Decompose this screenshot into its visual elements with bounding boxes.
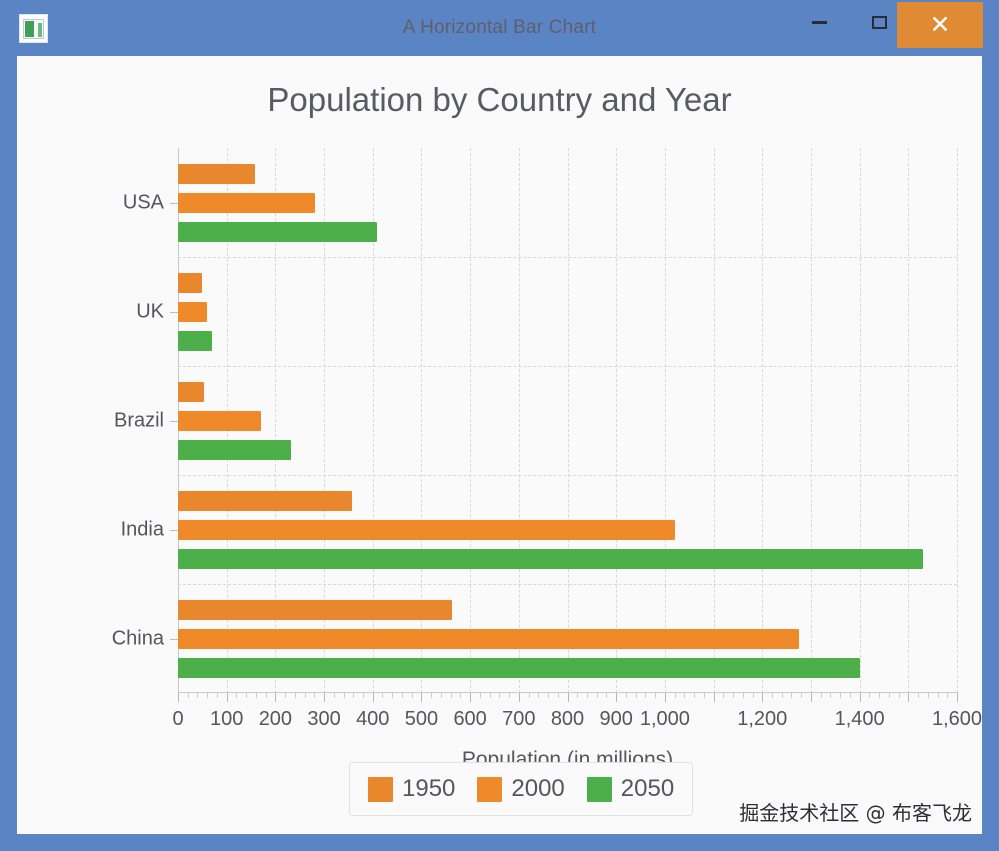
gridline-vertical xyxy=(616,148,617,693)
x-tick-minor xyxy=(460,693,461,698)
legend-item-2000[interactable]: 2000 xyxy=(477,775,564,803)
legend-swatch-1950 xyxy=(368,777,393,802)
x-tick-minor xyxy=(344,693,345,698)
x-tick-major xyxy=(519,693,520,702)
x-tick-minor xyxy=(509,693,510,698)
x-tick-minor xyxy=(548,693,549,698)
close-button[interactable]: ✕ xyxy=(897,2,983,48)
legend-label-2050: 2050 xyxy=(621,775,674,803)
x-tick-minor xyxy=(577,693,578,698)
legend-swatch-2050 xyxy=(587,777,612,802)
x-tick-minor xyxy=(772,693,773,698)
x-tick-minor xyxy=(655,693,656,698)
bar-china-2050[interactable] xyxy=(178,658,860,678)
bar-uk-2050[interactable] xyxy=(178,331,212,351)
x-tick-label-300: 300 xyxy=(307,708,340,731)
x-tick-minor xyxy=(314,693,315,698)
bar-usa-2000[interactable] xyxy=(178,193,315,213)
gridline-vertical xyxy=(665,148,666,693)
bar-india-2050[interactable] xyxy=(178,549,923,569)
x-tick-minor xyxy=(285,693,286,698)
x-tick-minor xyxy=(305,693,306,698)
x-tick-major xyxy=(373,693,374,702)
x-tick-label-0: 0 xyxy=(172,708,183,731)
x-tick-major xyxy=(860,693,861,702)
x-tick-major xyxy=(616,693,617,702)
bar-usa-1950[interactable] xyxy=(178,164,255,184)
x-tick-minor xyxy=(626,693,627,698)
gridline-vertical xyxy=(714,148,715,693)
x-tick-minor xyxy=(236,693,237,698)
gridline-vertical xyxy=(860,148,861,693)
x-tick-minor xyxy=(869,693,870,698)
x-tick-minor xyxy=(363,693,364,698)
legend-item-1950[interactable]: 1950 xyxy=(368,775,455,803)
x-tick-minor xyxy=(529,693,530,698)
y-tick-label-uk: UK xyxy=(136,300,164,323)
x-tick-minor xyxy=(266,693,267,698)
y-tick-label-usa: USA xyxy=(123,191,164,214)
bar-brazil-2000[interactable] xyxy=(178,411,261,431)
x-tick-minor xyxy=(821,693,822,698)
x-tick-minor xyxy=(402,693,403,698)
bar-india-1950[interactable] xyxy=(178,491,352,511)
gridline-vertical xyxy=(811,148,812,693)
x-tick-minor xyxy=(733,693,734,698)
x-tick-label-1200: 1,200 xyxy=(737,708,787,731)
x-tick-label-200: 200 xyxy=(259,708,292,731)
y-tick-label-brazil: Brazil xyxy=(114,409,164,432)
x-tick-minor xyxy=(743,693,744,698)
bar-india-2000[interactable] xyxy=(178,520,675,540)
gridline-vertical xyxy=(762,148,763,693)
gridline-horizontal xyxy=(178,584,957,585)
y-tick-label-india: India xyxy=(121,518,164,541)
window-title: A Horizontal Bar Chart xyxy=(0,17,999,39)
chart-title: Population by Country and Year xyxy=(17,81,982,119)
x-tick-minor xyxy=(207,693,208,698)
y-tick-mark xyxy=(170,421,178,422)
x-tick-minor xyxy=(197,693,198,698)
x-tick-label-1600: 1,600 xyxy=(932,708,982,731)
x-tick-label-600: 600 xyxy=(453,708,486,731)
x-tick-major xyxy=(275,693,276,702)
x-tick-minor xyxy=(947,693,948,698)
gridline-vertical xyxy=(519,148,520,693)
x-tick-major xyxy=(665,693,666,702)
x-tick-minor xyxy=(704,693,705,698)
x-tick-label-1000: 1,000 xyxy=(640,708,690,731)
x-tick-minor xyxy=(879,693,880,698)
x-tick-minor xyxy=(334,693,335,698)
x-tick-minor xyxy=(791,693,792,698)
y-tick-mark xyxy=(170,203,178,204)
chart-legend[interactable]: 195020002050 xyxy=(349,762,693,816)
x-tick-minor xyxy=(928,693,929,698)
x-tick-minor xyxy=(382,693,383,698)
x-tick-minor xyxy=(938,693,939,698)
x-tick-major xyxy=(421,693,422,702)
title-bar: A Horizontal Bar Chart ✕ xyxy=(0,0,999,56)
bar-usa-2050[interactable] xyxy=(178,222,377,242)
x-tick-minor xyxy=(441,693,442,698)
x-tick-minor xyxy=(694,693,695,698)
gridline-vertical xyxy=(470,148,471,693)
x-tick-minor xyxy=(636,693,637,698)
y-tick-label-china: China xyxy=(112,627,164,650)
chart-canvas: Population by Country and Year Country 0… xyxy=(17,56,982,834)
gridline-vertical xyxy=(568,148,569,693)
x-tick-label-800: 800 xyxy=(551,708,584,731)
x-tick-minor xyxy=(753,693,754,698)
legend-swatch-2000 xyxy=(477,777,502,802)
x-tick-minor xyxy=(480,693,481,698)
x-tick-minor xyxy=(412,693,413,698)
x-tick-minor xyxy=(499,693,500,698)
x-tick-minor xyxy=(587,693,588,698)
bar-uk-1950[interactable] xyxy=(178,273,202,293)
x-tick-minor xyxy=(899,693,900,698)
x-tick-major xyxy=(568,693,569,702)
x-tick-minor xyxy=(538,693,539,698)
x-tick-minor xyxy=(188,693,189,698)
x-tick-minor xyxy=(606,693,607,698)
x-tick-label-700: 700 xyxy=(502,708,535,731)
y-tick-mark xyxy=(170,530,178,531)
bar-brazil-1950[interactable] xyxy=(178,382,204,402)
x-tick-major xyxy=(714,693,715,702)
legend-label-1950: 1950 xyxy=(402,775,455,803)
x-tick-minor xyxy=(353,693,354,698)
x-tick-major xyxy=(324,693,325,702)
x-tick-minor xyxy=(675,693,676,698)
x-tick-minor xyxy=(782,693,783,698)
x-tick-major xyxy=(762,693,763,702)
close-icon: ✕ xyxy=(930,13,951,38)
x-tick-minor xyxy=(830,693,831,698)
gridline-horizontal xyxy=(178,475,957,476)
x-tick-major xyxy=(908,693,909,702)
bar-china-2000[interactable] xyxy=(178,629,799,649)
x-tick-minor xyxy=(801,693,802,698)
x-tick-minor xyxy=(558,693,559,698)
y-tick-mark xyxy=(170,639,178,640)
x-tick-label-400: 400 xyxy=(356,708,389,731)
x-tick-label-1400: 1,400 xyxy=(835,708,885,731)
x-tick-minor xyxy=(246,693,247,698)
x-tick-minor xyxy=(256,693,257,698)
x-tick-minor xyxy=(684,693,685,698)
x-tick-minor xyxy=(451,693,452,698)
x-tick-major xyxy=(957,693,958,702)
application-window: A Horizontal Bar Chart ✕ Population by C… xyxy=(0,0,999,851)
legend-label-2000: 2000 xyxy=(511,775,564,803)
x-tick-label-500: 500 xyxy=(405,708,438,731)
minimize-icon xyxy=(812,21,827,24)
x-tick-minor xyxy=(490,693,491,698)
x-tick-major xyxy=(811,693,812,702)
y-tick-mark xyxy=(170,312,178,313)
x-tick-label-100: 100 xyxy=(210,708,243,731)
watermark-text: 掘金技术社区 @ 布客飞龙 xyxy=(739,797,972,826)
plot-area: 01002003004005006007008009001,0001,2001,… xyxy=(178,148,957,693)
legend-item-2050[interactable]: 2050 xyxy=(587,775,674,803)
x-tick-major xyxy=(470,693,471,702)
gridline-horizontal xyxy=(178,257,957,258)
minimize-button[interactable] xyxy=(795,0,843,44)
x-tick-minor xyxy=(597,693,598,698)
bar-uk-2000[interactable] xyxy=(178,302,207,322)
gridline-vertical xyxy=(908,148,909,693)
x-tick-minor xyxy=(723,693,724,698)
maximize-icon xyxy=(872,16,887,29)
x-tick-minor xyxy=(295,693,296,698)
x-tick-major xyxy=(178,693,179,702)
maximize-button[interactable] xyxy=(855,0,903,44)
x-tick-minor xyxy=(392,693,393,698)
x-tick-minor xyxy=(217,693,218,698)
x-tick-minor xyxy=(889,693,890,698)
x-tick-minor xyxy=(840,693,841,698)
x-tick-major xyxy=(227,693,228,702)
x-tick-minor xyxy=(850,693,851,698)
bar-brazil-2050[interactable] xyxy=(178,440,291,460)
x-tick-minor xyxy=(645,693,646,698)
gridline-vertical xyxy=(957,148,958,693)
x-tick-label-900: 900 xyxy=(600,708,633,731)
gridline-horizontal xyxy=(178,366,957,367)
x-tick-minor xyxy=(918,693,919,698)
x-tick-minor xyxy=(431,693,432,698)
bar-china-1950[interactable] xyxy=(178,600,452,620)
